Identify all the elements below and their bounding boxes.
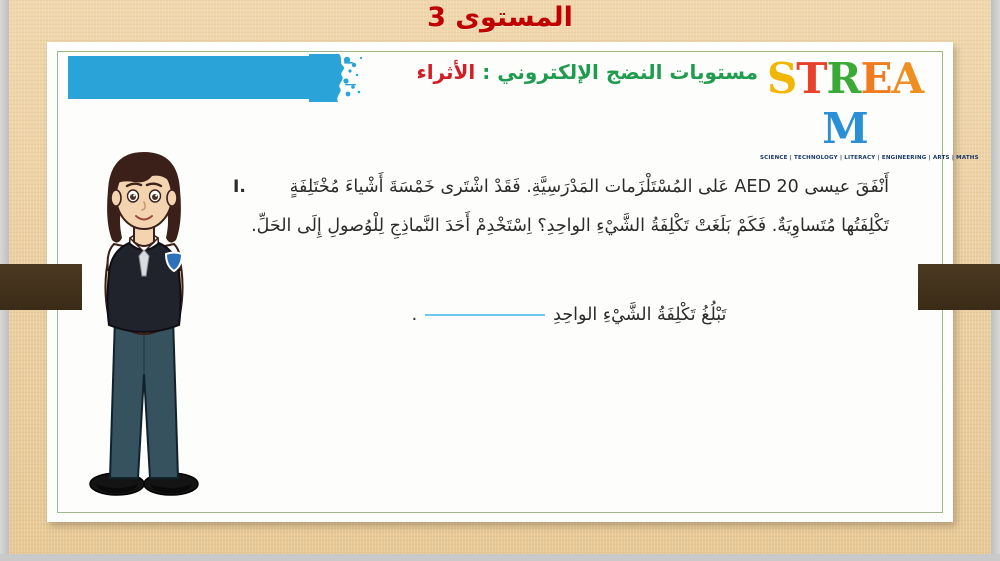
page-title: المستوى 3 (0, 2, 1000, 33)
question-marker: I. (233, 168, 246, 207)
stream-letter-t: T (796, 54, 826, 104)
question-line-1: أَنْفَقَ عيسى AED 20 عَلى المُسْتَلْزَما… (249, 168, 889, 207)
frame-edge-bottom (0, 554, 1000, 561)
header-title-highlight: الأثراء (416, 60, 475, 84)
header-title: مستويات النضج الإلكتروني : الأثراء (416, 60, 758, 84)
stream-letter-r: R (827, 54, 861, 104)
header-title-main: مستويات النضج الإلكتروني (497, 60, 758, 84)
banner-splash-icon (309, 54, 375, 102)
decor-ribbon-right (918, 264, 1000, 310)
question-line-2: تَكْلِفَتُها مُتَساوِيَةٌ. فَكَمْ بَلَغَ… (249, 207, 889, 246)
slide-canvas: المستوى 3 مستويات النضج الإلكتروني : الأ… (0, 0, 1000, 561)
stream-letter-e: E (860, 54, 891, 104)
stream-logo-letters: STREAM (760, 54, 930, 154)
answer-suffix: . (412, 305, 418, 325)
answer-prefix: تَبْلُغُ تَكْلِفَةُ الشَّيْءِ الواحِدِ (553, 305, 726, 325)
stream-letter-m: M (822, 104, 868, 154)
stream-logo-subtitle: SCIENCE | TECHNOLOGY | LITERACY | ENGINE… (760, 155, 930, 161)
student-character-illustration (74, 148, 214, 500)
answer-statement: تَبْلُغُ تَكْلِفَةُ الشَّيْءِ الواحِدِ. (249, 305, 889, 325)
question-text: I. أَنْفَقَ عيسى AED 20 عَلى المُسْتَلْز… (249, 168, 889, 246)
header-title-separator: : (475, 60, 497, 84)
answer-blank-field[interactable] (425, 314, 545, 316)
stream-logo: STREAM SCIENCE | TECHNOLOGY | LITERACY |… (760, 54, 930, 126)
decor-ribbon-left (0, 264, 82, 310)
header-banner (68, 56, 311, 99)
stream-letter-s: S (767, 54, 796, 104)
stream-letter-a: A (891, 54, 923, 104)
